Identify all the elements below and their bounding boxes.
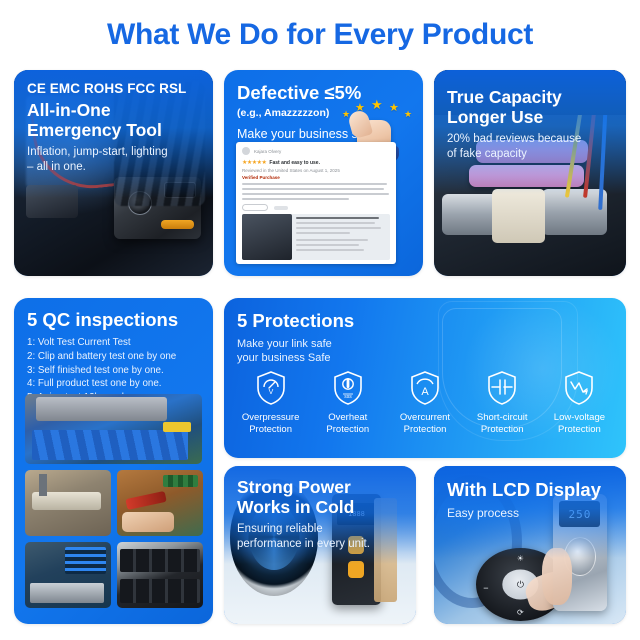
- shield-ampere-icon: A: [409, 370, 441, 406]
- lcd-title: With LCD Display: [447, 480, 616, 501]
- protection-label-line1: Short-circuit: [477, 412, 528, 423]
- verified-purchase-badge: Verified Purchase: [242, 175, 390, 180]
- amazon-review-screenshot: Kajara Olvery ★★★★★ Fast and easy to use…: [236, 142, 396, 264]
- capacity-sub-line2: of fake capacity: [447, 147, 616, 162]
- protection-item-overpressure: V Overpressure Protection: [232, 370, 309, 436]
- qc-item: 4: Full product test one by one.: [27, 377, 203, 391]
- review-title: Fast and easy to use.: [269, 160, 320, 166]
- qc-item: 1: Volt Test Current Test: [27, 336, 203, 350]
- qc-item: 3: Self finished test one by one.: [27, 364, 203, 378]
- shield-gauge-icon: V: [255, 370, 287, 406]
- shield-thermometer-icon: sss: [332, 370, 364, 406]
- card-title-line1: All-in-One: [27, 101, 203, 121]
- card-emergency-tool: CE EMC ROHS FCC RSL All-in-One Emergency…: [14, 70, 213, 276]
- lcd-sub: Easy process: [447, 506, 616, 521]
- protection-label-line2: Protection: [249, 424, 292, 435]
- card-title-line2: Emergency Tool: [27, 121, 203, 141]
- protections-sub-line1: Make your link safe: [237, 337, 616, 351]
- assembly-fixture-photo: [25, 470, 111, 536]
- protection-item-overcurrent: A Overcurrent Protection: [386, 370, 463, 436]
- aging-test-rack-photo: [25, 394, 202, 464]
- card-sub-line1: Inflation, jump-start, lighting: [27, 145, 203, 160]
- review-report-button[interactable]: [274, 206, 288, 210]
- protection-item-short-circuit: Short-circuit Protection: [464, 370, 541, 436]
- capacity-title-line1: True Capacity: [447, 88, 616, 108]
- infographic-page: What We Do for Every Product CE EMC ROHS…: [0, 0, 640, 640]
- shield-circuit-icon: [486, 370, 518, 406]
- protection-label-line1: Overheat: [328, 412, 367, 423]
- qc-item: 2: Clip and battery test one by one: [27, 350, 203, 364]
- protection-item-overheat: sss Overheat Protection: [309, 370, 386, 436]
- card-lcd-display: ⏻ ☀ − + ⟳ 250 With LCD Display Easy proc…: [434, 466, 626, 624]
- card-sub-line2: – all in one.: [27, 160, 203, 175]
- card-protections: 5 Protections Make your link safe your b…: [224, 298, 626, 458]
- card-qc-inspections: 5 QC inspections 1: Volt Test Current Te…: [14, 298, 213, 624]
- protection-label-line1: Overcurrent: [400, 412, 450, 423]
- strong-power-sub-line2: performance in every unit.: [237, 537, 406, 552]
- svg-text:V: V: [268, 389, 273, 396]
- volt-current-test-bench-photo: [25, 542, 111, 608]
- card-strong-power: 1888 Strong Power Works in Cold Ensuring…: [224, 466, 416, 624]
- certification-eyebrow: CE EMC ROHS FCC RSL: [27, 81, 203, 96]
- protections-sub-line2: your business Safe: [237, 351, 616, 365]
- protection-item-low-voltage: Low-voltage Protection: [541, 370, 618, 436]
- review-meta: Reviewed in the United States on August …: [242, 168, 390, 173]
- shield-waveform-icon: [563, 370, 595, 406]
- protection-label-line2: Protection: [404, 424, 447, 435]
- mode-button-icon[interactable]: ⟳: [517, 608, 524, 617]
- svg-text:A: A: [421, 386, 429, 398]
- finished-product-rack-photo: [117, 542, 203, 608]
- minus-button-icon[interactable]: −: [483, 583, 488, 593]
- reviewer-name: Kajara Olvery: [254, 149, 281, 154]
- qc-title: 5 QC inspections: [27, 310, 203, 331]
- reviewer-avatar: [242, 147, 250, 155]
- strong-power-title-line2: Works in Cold: [237, 498, 406, 518]
- protection-label-line1: Low-voltage: [554, 412, 605, 423]
- capacity-title-line2: Longer Use: [447, 108, 616, 128]
- protection-label-line2: Protection: [558, 424, 601, 435]
- capacity-sub-line1: 20% bad reviews because: [447, 132, 616, 147]
- review-stars: ★★★★★: [242, 159, 266, 166]
- clip-battery-test-photo: [117, 470, 203, 536]
- review-product-preview: [242, 214, 390, 260]
- strong-power-title-line1: Strong Power: [237, 478, 406, 498]
- card-defective-rate: Defective ≤5% (e.g., Amazzzzzon) Make yo…: [224, 70, 423, 276]
- protections-title: 5 Protections: [237, 311, 616, 332]
- strong-power-sub-line1: Ensuring reliable: [237, 522, 406, 537]
- protection-label-line2: Protection: [481, 424, 524, 435]
- page-title: What We Do for Every Product: [0, 18, 640, 52]
- protection-label-line1: Overpressure: [242, 412, 300, 423]
- review-body-text: [242, 183, 390, 200]
- card-true-capacity: True Capacity Longer Use 20% bad reviews…: [434, 70, 626, 276]
- protection-items-row: V Overpressure Protection sss Overheat: [224, 370, 626, 436]
- review-helpful-button[interactable]: [242, 204, 268, 211]
- protection-label-line2: Protection: [326, 424, 369, 435]
- svg-text:sss: sss: [344, 394, 352, 400]
